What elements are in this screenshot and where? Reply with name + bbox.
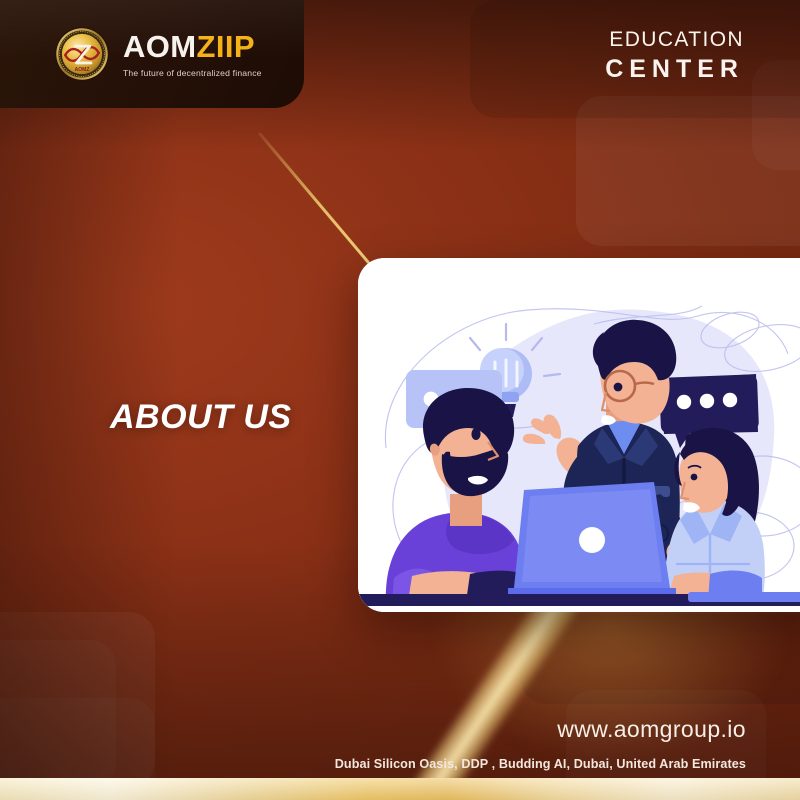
illustration-card (358, 258, 800, 612)
website-url[interactable]: www.aomgroup.io (557, 716, 746, 743)
svg-text:AOMZ: AOMZ (75, 67, 90, 73)
laptop (508, 482, 676, 598)
poster-canvas: AOMZ AOMZIIP The future of decentralized… (0, 0, 800, 800)
center-line: CENTER (605, 55, 744, 85)
footer-gold-strip (0, 778, 800, 800)
education-line: EDUCATION (605, 28, 744, 53)
company-address: Dubai Silicon Oasis, DDP , Budding AI, D… (335, 757, 746, 771)
header-sheen (0, 0, 304, 108)
page-title: ABOUT US (110, 398, 292, 437)
team-discussion-illustration (358, 258, 800, 612)
aomziip-coin-logo-icon: AOMZ (54, 26, 110, 82)
brand-header: AOMZ AOMZIIP The future of decentralized… (0, 0, 304, 108)
education-center-label: EDUCATION CENTER (605, 28, 744, 84)
